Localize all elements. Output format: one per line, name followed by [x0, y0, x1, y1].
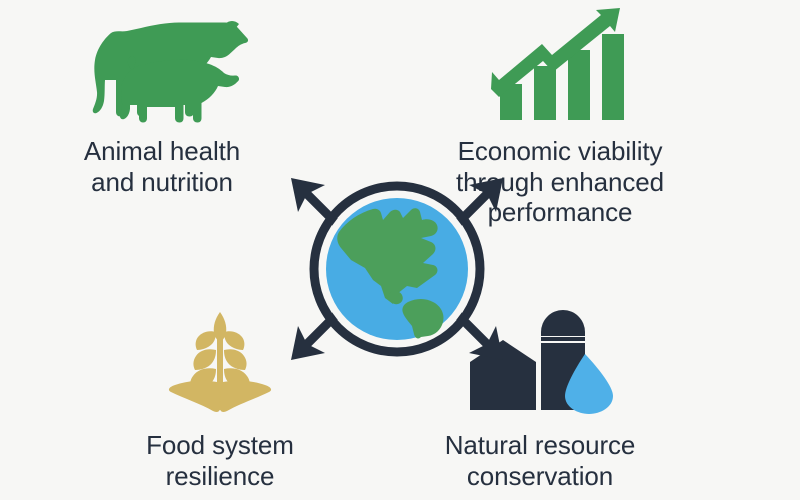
caption-animal-health: Animal health and nutrition — [84, 136, 240, 197]
cow-and-pig-icon — [75, 8, 250, 126]
silo-ring — [541, 337, 585, 341]
wheat-stalk-icon — [165, 306, 275, 416]
globe-icon — [281, 168, 513, 370]
caption-natural-resource-conservation: Natural resource conservation — [445, 430, 636, 491]
growth-bar-chart-icon — [490, 8, 630, 126]
bar-3 — [568, 50, 590, 120]
bar-4 — [602, 34, 624, 120]
silo-cap — [541, 310, 585, 336]
quadrant-animal-health: Animal health and nutrition — [12, 8, 312, 197]
infographic-canvas: Animal health and nutrition Economic via… — [0, 0, 800, 500]
bar-2 — [534, 66, 556, 120]
caption-food-system-resilience: Food system resilience — [146, 430, 294, 491]
